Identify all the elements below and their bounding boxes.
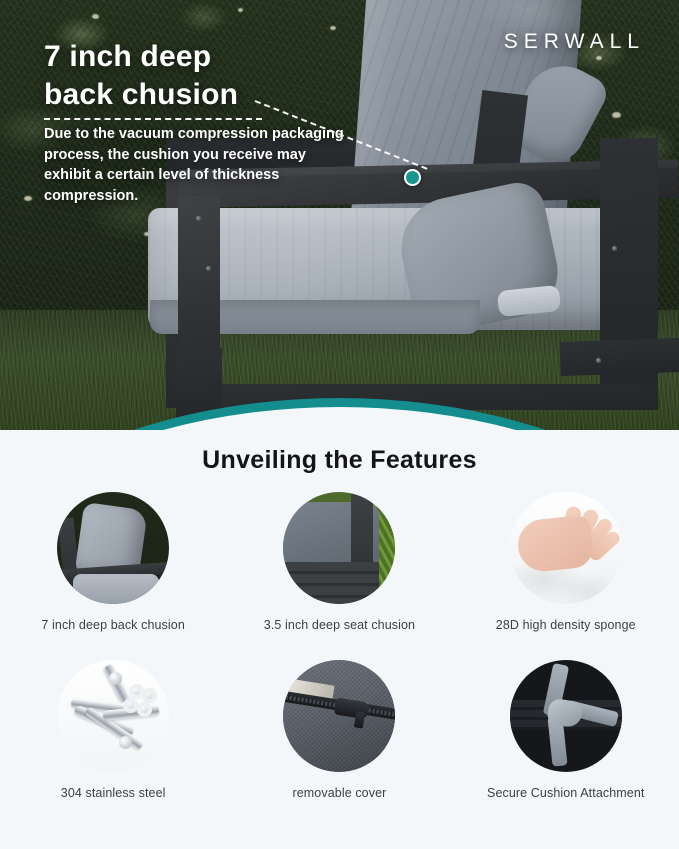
zipper-closeup-photo	[283, 660, 395, 772]
sun-speck	[330, 26, 336, 30]
stainless-hardware-photo	[57, 660, 169, 772]
back-cushion-photo	[57, 492, 169, 604]
thumb-bolt-head	[119, 736, 132, 749]
feature-item-stainless-steel[interactable]: 304 stainless steel	[0, 660, 226, 800]
feature-item-back-cushion[interactable]: 7 inch deep back chusion	[0, 492, 226, 632]
hero-banner: SERWALL 7 inch deep back chusion Due to …	[0, 0, 679, 430]
feature-item-sponge[interactable]: 28D high density sponge	[453, 492, 679, 632]
features-section-title: Unveiling the Features	[0, 446, 679, 475]
chair-left-leg	[176, 348, 222, 430]
sun-speck	[92, 14, 99, 19]
screw-icon	[612, 246, 617, 251]
feature-caption: removable cover	[292, 786, 386, 800]
feature-caption: Secure Cushion Attachment	[487, 786, 644, 800]
feature-item-cushion-attachment[interactable]: Secure Cushion Attachment	[453, 660, 679, 800]
cushion-tie-knot-photo	[510, 660, 622, 772]
features-grid: 7 inch deep back chusion 3.5 inch deep s…	[0, 492, 679, 800]
product-infographic-page: SERWALL 7 inch deep back chusion Due to …	[0, 0, 679, 849]
feature-caption: 3.5 inch deep seat chusion	[264, 618, 415, 632]
thumb-washer	[142, 688, 157, 703]
feature-item-removable-cover[interactable]: removable cover	[226, 660, 452, 800]
hero-subcopy: Due to the vacuum compression packaging …	[44, 124, 344, 206]
thumb-seat-cushion	[73, 574, 159, 604]
feature-caption: 28D high density sponge	[496, 618, 636, 632]
hero-headline: 7 inch deep back chusion	[44, 38, 374, 114]
sun-speck	[238, 8, 243, 12]
features-section: Unveiling the Features 7 inch deep back …	[0, 430, 679, 849]
screw-icon	[206, 266, 211, 271]
hero-headline-line1: 7 inch deep	[44, 38, 374, 76]
feature-item-seat-cushion[interactable]: 3.5 inch deep seat chusion	[226, 492, 452, 632]
feature-caption: 304 stainless steel	[61, 786, 166, 800]
callout-leader-horizontal	[44, 118, 262, 120]
screw-icon	[196, 216, 201, 221]
screw-icon	[596, 358, 601, 363]
sun-speck	[596, 56, 602, 60]
features-row-1: 7 inch deep back chusion 3.5 inch deep s…	[0, 492, 679, 632]
seat-cushion-photo	[283, 492, 395, 604]
feature-caption: 7 inch deep back chusion	[41, 618, 184, 632]
hero-headline-line2: back chusion	[44, 76, 374, 114]
hand-pressing-foam-photo	[510, 492, 622, 604]
features-row-2: 304 stainless steel removable cover	[0, 660, 679, 800]
teal-dot-marker-icon	[404, 169, 421, 186]
thumb-chair-slats	[283, 562, 379, 604]
chair-right-leg-brace	[559, 338, 679, 376]
chair-lower-rail	[188, 384, 658, 410]
serwall-logo: SERWALL	[504, 30, 645, 54]
